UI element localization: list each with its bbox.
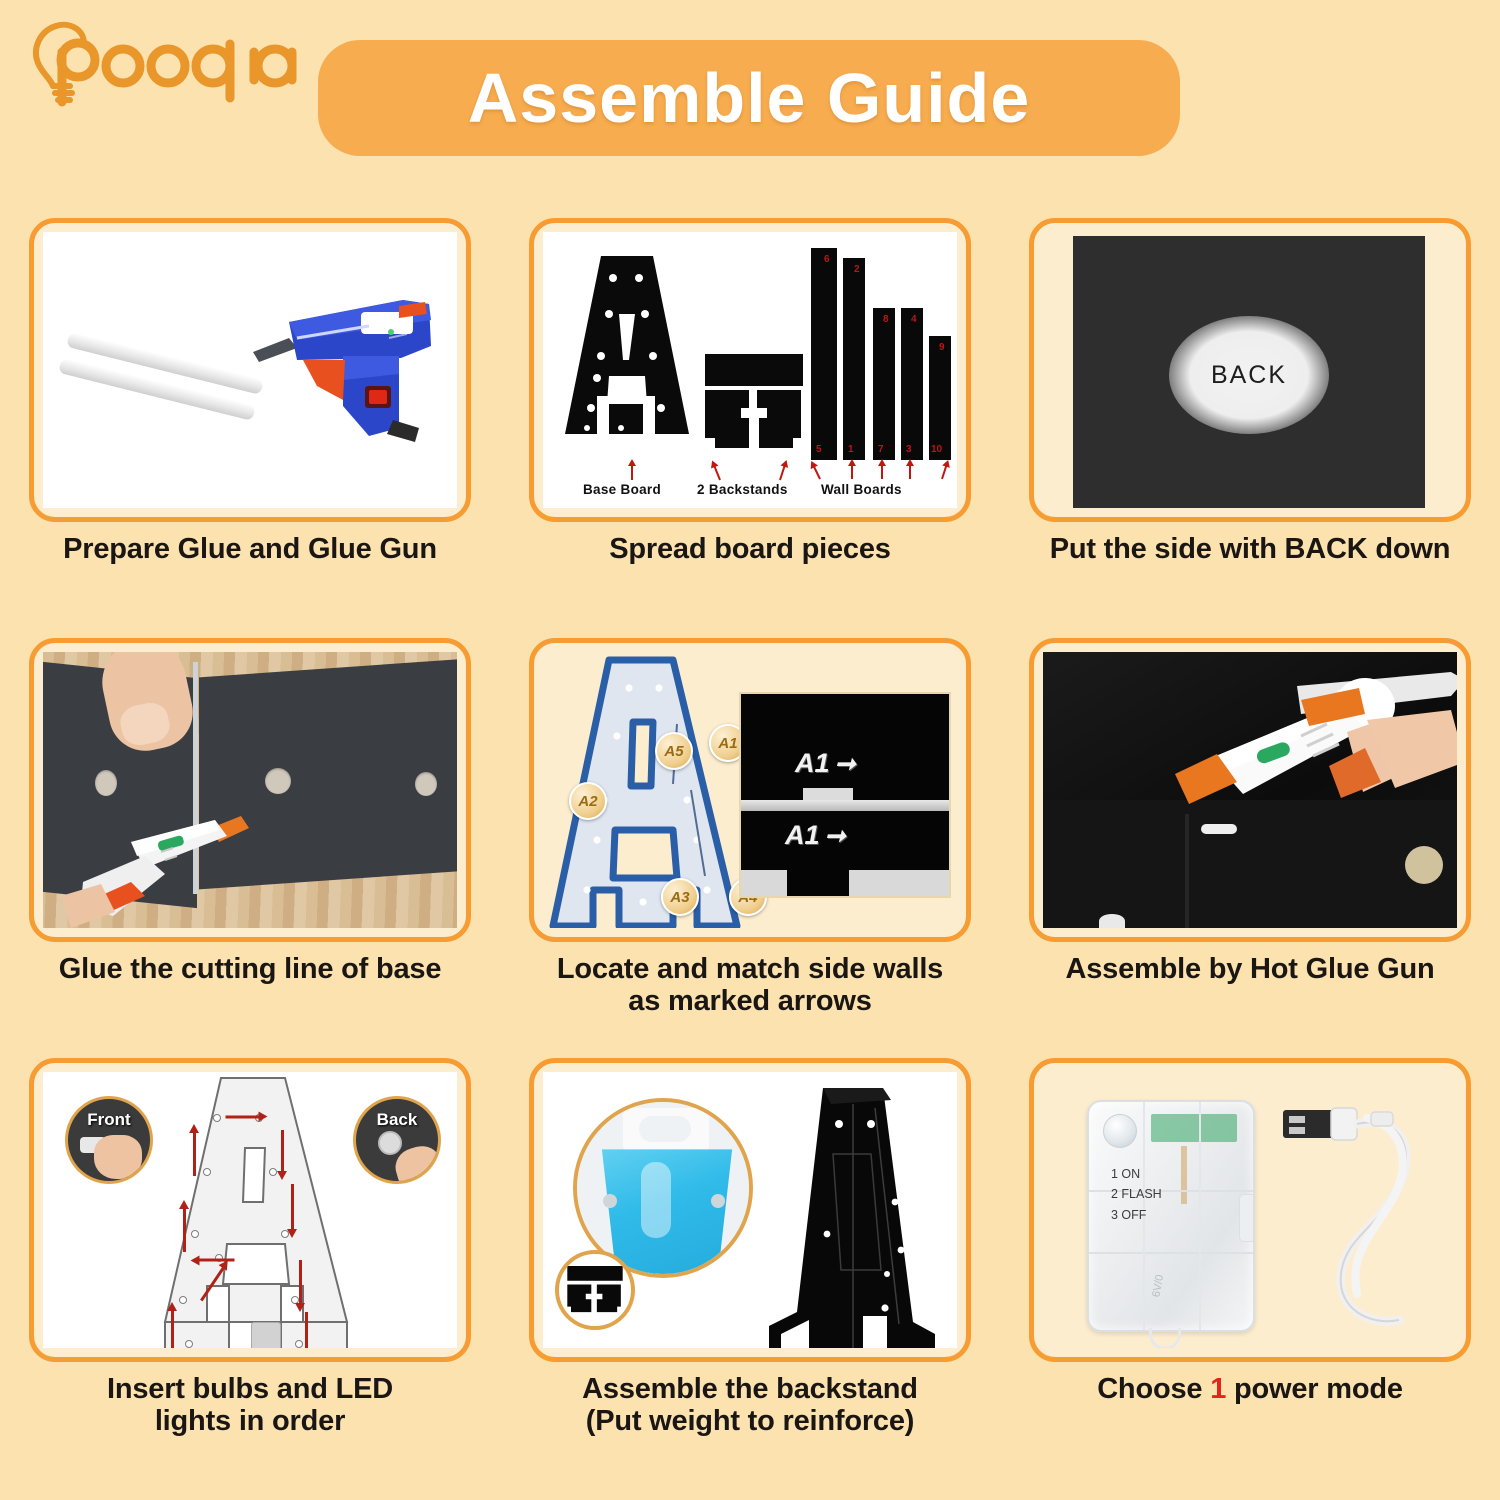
page-title: Assemble Guide <box>468 63 1031 133</box>
back-plate-scene: BACK <box>1043 232 1457 508</box>
step-2-image-frame: 6 5 2 1 8 7 4 3 <box>529 218 971 522</box>
hot-glue-gun-photo <box>1043 652 1457 928</box>
back-label: BACK <box>1211 361 1287 390</box>
step-card-7: Front Back Insert bulbs and LED <box>0 1058 500 1478</box>
a1-match-inset: A1➞ A1➞ <box>739 692 951 898</box>
step-8-caption: Assemble the backstand (Put weight to re… <box>515 1373 985 1438</box>
wall-board: 6 5 <box>811 248 837 460</box>
battery-holder-icon <box>251 1322 281 1348</box>
step-card-1: Prepare Glue and Glue Gun <box>0 218 500 638</box>
caption-prefix: Choose <box>1097 1373 1210 1405</box>
usb-cable-icon <box>1279 1098 1439 1338</box>
step-7-caption: Insert bulbs and LED lights in order <box>15 1373 485 1438</box>
a1-tag-bottom: A1➞ <box>785 820 845 851</box>
match-side-walls-scene: A5 A1 A2 A3 A4 A1➞ A1➞ <box>543 652 957 928</box>
pointer-arrow-icon <box>881 464 883 479</box>
marker-a2: A2 <box>569 782 607 820</box>
page-header: Assemble Guide <box>0 0 1500 200</box>
pointer-arrow-icon <box>851 464 853 479</box>
step-8-image-frame <box>529 1058 971 1362</box>
pointer-arrow-icon <box>779 464 786 480</box>
step-card-2: 6 5 2 1 8 7 4 3 <box>500 218 1000 638</box>
assembled-backstand-icon <box>767 1084 939 1348</box>
glue-gun-scene <box>43 232 457 508</box>
front-label: Front <box>87 1110 130 1130</box>
glue-gun-icon <box>193 260 453 450</box>
wall-boards-label: Wall Boards <box>821 482 902 497</box>
backstands-label: 2 Backstands <box>697 482 788 497</box>
step-5-caption: Locate and match side walls as marked ar… <box>515 953 985 1018</box>
caption-highlight: 1 <box>1210 1373 1226 1405</box>
step-card-8: Assemble the backstand (Put weight to re… <box>500 1058 1000 1478</box>
pointer-arrow-icon <box>631 464 633 480</box>
assemble-guide-page: Assemble Guide <box>0 0 1500 1500</box>
back-plate: BACK <box>1073 236 1425 508</box>
pcb-icon <box>1151 1114 1237 1142</box>
white-glue-gun-icon <box>1151 670 1457 854</box>
battery-box-scene: 1 ON 2 FLASH 3 OFF 6V/0 <box>1043 1072 1457 1348</box>
step-card-9: 1 ON 2 FLASH 3 OFF 6V/0 <box>1000 1058 1500 1478</box>
direction-arrow-icon <box>183 1208 186 1252</box>
step-6-caption: Assemble by Hot Glue Gun <box>1015 953 1485 985</box>
board-pieces-scene: 6 5 2 1 8 7 4 3 <box>543 232 957 508</box>
step-9-caption: Choose 1 power mode <box>1015 1373 1485 1405</box>
base-board-label: Base Board <box>583 482 661 497</box>
direction-arrow-icon <box>299 1260 302 1304</box>
step-6-image-frame <box>1029 638 1471 942</box>
wall-board: 8 7 <box>873 308 895 460</box>
marker-a3: A3 <box>661 878 699 916</box>
brand-logo <box>22 18 312 114</box>
direction-arrow-icon <box>193 1132 196 1176</box>
step-7-image-frame: Front Back <box>29 1058 471 1362</box>
backstand-piece-inset <box>555 1250 635 1330</box>
back-label: Back <box>377 1110 418 1130</box>
wall-board: 4 3 <box>901 308 923 460</box>
direction-arrow-icon <box>291 1184 294 1230</box>
backstand-piece-icon <box>567 1266 623 1314</box>
wall-board: 2 1 <box>843 258 865 460</box>
mode-option-off[interactable]: 3 OFF <box>1111 1205 1162 1225</box>
step-card-5: A5 A1 A2 A3 A4 A1➞ A1➞ <box>500 638 1000 1058</box>
marker-a5: A5 <box>655 732 693 770</box>
white-glue-gun-icon <box>61 812 251 928</box>
arrow-right-icon: ➞ <box>835 749 856 779</box>
title-banner: Assemble Guide <box>318 40 1180 156</box>
pointer-arrow-icon <box>909 464 911 479</box>
pointer-arrow-icon <box>713 465 721 481</box>
step-4-caption: Glue the cutting line of base <box>15 953 485 985</box>
base-board-icon <box>565 256 690 456</box>
insert-bulbs-scene: Front Back <box>43 1072 457 1348</box>
step-card-3: BACK Put the side with BACK down <box>1000 218 1500 638</box>
power-mode-list: 1 ON 2 FLASH 3 OFF <box>1111 1164 1162 1225</box>
direction-arrow-icon <box>199 1259 235 1262</box>
step-card-6: Assemble by Hot Glue Gun <box>1000 638 1500 1058</box>
steps-grid: Prepare Glue and Glue Gun <box>0 218 1500 1478</box>
direction-arrow-icon <box>226 1116 260 1119</box>
direction-arrow-icon <box>305 1312 308 1348</box>
step-3-caption: Put the side with BACK down <box>1015 533 1485 565</box>
step-2-caption: Spread board pieces <box>515 533 985 565</box>
mode-option-on[interactable]: 1 ON <box>1111 1164 1162 1184</box>
step-card-4: Glue the cutting line of base <box>0 638 500 1058</box>
step-4-image-frame <box>29 638 471 942</box>
arrow-right-icon: ➞ <box>825 821 846 851</box>
glow-spot-icon: BACK <box>1169 316 1329 434</box>
step-9-image-frame: 1 ON 2 FLASH 3 OFF 6V/0 <box>1029 1058 1471 1362</box>
step-1-image-frame <box>29 218 471 522</box>
step-1-caption: Prepare Glue and Glue Gun <box>15 533 485 565</box>
wall-board: 9 10 <box>929 336 951 460</box>
direction-arrow-icon <box>281 1130 284 1172</box>
battery-box-icon: 1 ON 2 FLASH 3 OFF 6V/0 <box>1087 1100 1255 1332</box>
backstands-icon <box>705 354 803 458</box>
mode-switch-knob[interactable] <box>1103 1114 1137 1148</box>
pointer-arrow-icon <box>813 465 821 479</box>
a1-tag-top: A1➞ <box>795 748 855 779</box>
front-inset: Front <box>65 1096 153 1184</box>
backstand-scene <box>543 1072 957 1348</box>
back-inset: Back <box>353 1096 441 1184</box>
direction-arrow-icon <box>171 1310 174 1348</box>
step-5-image-frame: A5 A1 A2 A3 A4 A1➞ A1➞ <box>529 638 971 942</box>
mode-option-flash[interactable]: 2 FLASH <box>1111 1184 1162 1204</box>
caption-suffix: power mode <box>1226 1373 1403 1405</box>
glue-base-photo <box>43 652 457 928</box>
pointer-arrow-icon <box>941 464 948 479</box>
step-3-image-frame: BACK <box>1029 218 1471 522</box>
